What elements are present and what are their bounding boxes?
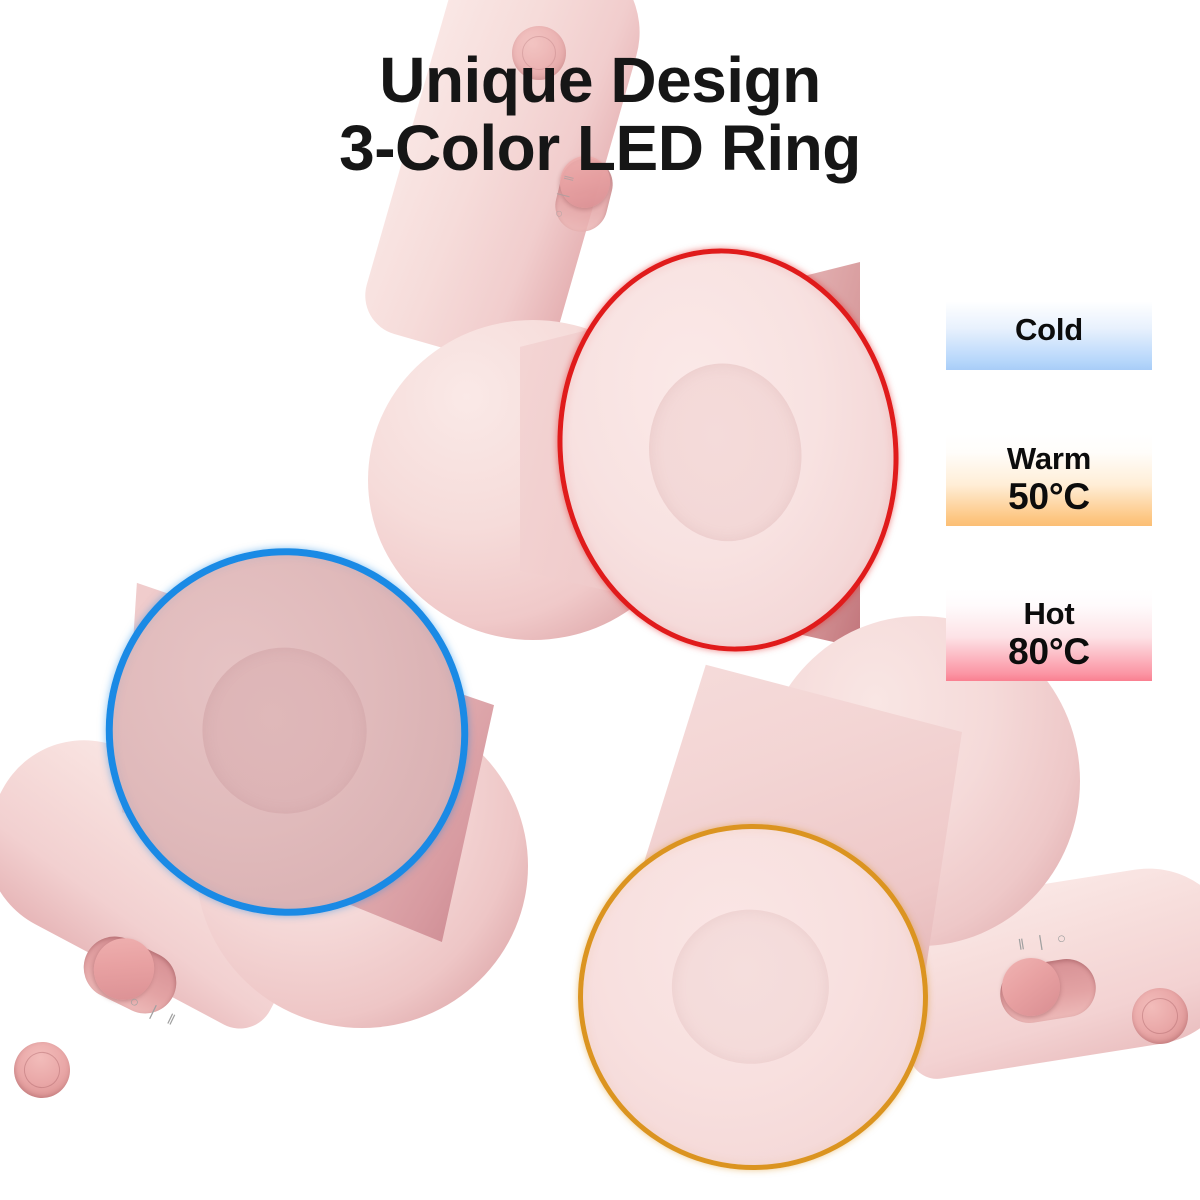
badge-cold-label: Cold	[1015, 313, 1083, 348]
temperature-badge-hot: Hot 80°C	[946, 589, 1152, 681]
badge-warm-temperature: 50°C	[1008, 477, 1090, 518]
temperature-badge-cold: Cold	[946, 290, 1152, 370]
product-feature-image: ‖ ❘ ○ ○ ❘ ‖	[0, 0, 1200, 1200]
badge-hot-temperature: 80°C	[1008, 632, 1090, 673]
dryer-bottom-nozzle-inner-circle	[666, 903, 835, 1071]
dryer-left-nozzle-inner-circle	[183, 628, 386, 833]
badge-warm-label: Warm	[1007, 442, 1091, 477]
temperature-badge-warm: Warm 50°C	[946, 434, 1152, 526]
dryer-top-power-button[interactable]	[512, 26, 566, 80]
dryer-top-nozzle-inner-circle	[639, 355, 811, 549]
dryer-left-power-button[interactable]	[5, 1033, 80, 1108]
badge-hot-label: Hot	[1023, 597, 1074, 632]
